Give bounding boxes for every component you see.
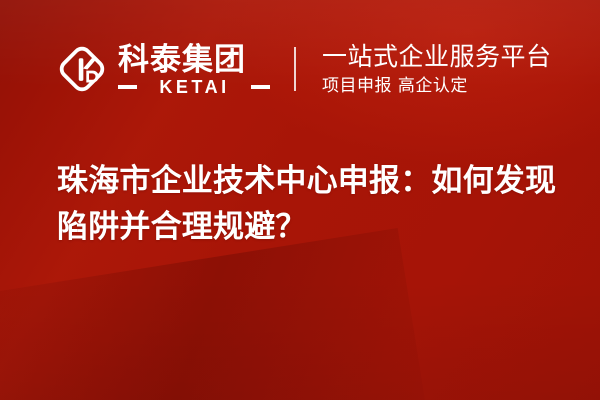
banner-header: 科泰集团 KETAI 一站式企业服务平台 项目申报 高企认定	[55, 33, 552, 105]
brand-name-en-row: KETAI	[118, 78, 270, 97]
wordmark-rule-right	[251, 85, 270, 89]
brand-name-cn: 科泰集团	[118, 44, 270, 77]
tagline-block: 一站式企业服务平台 项目申报 高企认定	[322, 42, 552, 97]
promo-banner: 科泰集团 KETAI 一站式企业服务平台 项目申报 高企认定 珠海市企业技术中心…	[0, 0, 600, 400]
brand-name-en: KETAI	[153, 78, 234, 97]
wordmark-rule-left	[118, 85, 137, 89]
background-sheen-streak	[0, 228, 436, 400]
vertical-divider	[294, 47, 296, 91]
brand-logo[interactable]: 科泰集团 KETAI	[55, 42, 270, 97]
page-title: 珠海市企业技术中心申报：如何发现陷阱并合理规避？	[57, 158, 557, 250]
ketai-diamond-monogram-icon	[55, 42, 109, 96]
brand-wordmark: 科泰集团 KETAI	[118, 42, 270, 97]
tagline-primary: 一站式企业服务平台	[322, 42, 552, 72]
tagline-secondary: 项目申报 高企认定	[322, 75, 552, 97]
